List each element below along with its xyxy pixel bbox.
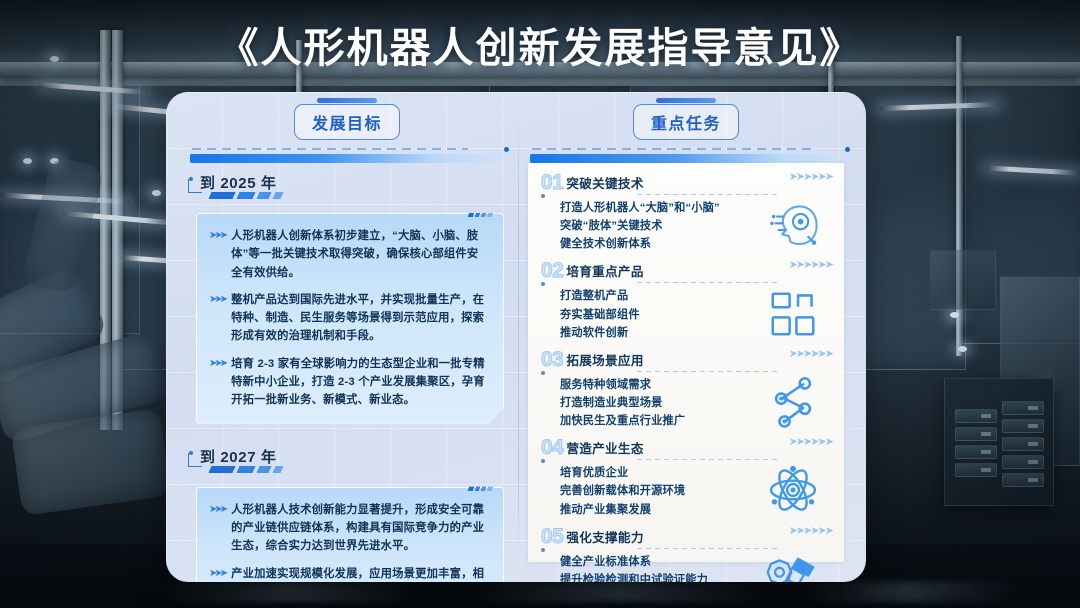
development-goals-badge: 发展目标 [294, 104, 400, 140]
chevron-bullet-icon: ➤➤➤ [209, 501, 225, 556]
task-chevrons-deco: ➤➤➤➤➤➤ [789, 170, 832, 183]
task-number: 02 [541, 260, 563, 281]
task-chevrons-deco: ➤➤➤➤➤➤ [789, 524, 832, 537]
chevron-bullet-icon: ➤➤➤ [209, 565, 225, 582]
task-number: 03 [541, 349, 563, 370]
tasks-header-bar [530, 154, 844, 163]
year-label: 到 2027 年 [200, 449, 277, 466]
goal-bullet: ➤➤➤ 人形机器人创新体系初步建立，“大脑、小脑、肢体”等一批关键技术取得突破，… [209, 227, 489, 282]
goal-bullet: ➤➤➤ 培育 2-3 家有全球影响力的生态型企业和一批专精特新中小企业，打造 2… [209, 355, 489, 410]
chevron-bullet-icon: ➤➤➤ [209, 227, 225, 282]
development-goals-panel: 发展目标 到 2025 年 ➤➤➤ 人形机器人创新体系初步建立，“大脑、小脑、肢… [166, 92, 518, 582]
goal-bullet: ➤➤➤ 产业加速实现规模化发展，应用场景更加丰富，相关产品深度融入实体经济，成为… [209, 565, 489, 582]
task-title: 营造产业生态 [566, 438, 643, 458]
year-tag-2025: 到 2025 年 [200, 172, 504, 193]
tasks-list: 01 突破关键技术 ➤➤➤➤➤➤ 打造人形机器人“大脑”和“小脑” 突破“肢体”… [528, 163, 844, 562]
column-divider [518, 108, 519, 566]
task-title: 突破关键技术 [566, 173, 643, 193]
chevron-bullet-icon: ➤➤➤ [209, 291, 225, 346]
task-item: 02 培育重点产品 ➤➤➤➤➤➤ 打造整机产品 夯实基础部组件 推动软件创新 [538, 260, 834, 347]
goal-bullet-text: 人形机器人技术创新能力显著提升，形成安全可靠的产业链供应链体系，构建具有国际竞争… [231, 501, 489, 556]
task-body: 打造整机产品 夯实基础部组件 推动软件创新 [538, 281, 834, 345]
task-title: 拓展场景应用 [566, 350, 643, 370]
task-item: 04 营造产业生态 ➤➤➤➤➤➤ 培育优质企业 完善创新载体和开源环境 推动产业… [538, 437, 834, 524]
task-item: 05 强化支撑能力 ➤➤➤➤➤➤ 健全产业标准体系 提升检验检测和中试验证能力 … [538, 526, 834, 582]
task-header: 05 强化支撑能力 ➤➤➤➤➤➤ [538, 526, 834, 547]
task-header: 03 拓展场景应用 ➤➤➤➤➤➤ [538, 349, 834, 370]
robot-head-icon [766, 198, 820, 252]
year-underline-deco [186, 192, 307, 199]
goal-bullet-text: 产业加速实现规模化发展，应用场景更加丰富，相关产品深度融入实体经济，成为重要的经… [231, 565, 489, 582]
task-header: 01 突破关键技术 ➤➤➤➤➤➤ [538, 172, 834, 193]
page-title: 《人形机器人创新发展指导意见》 [0, 14, 1080, 74]
task-number: 04 [541, 437, 563, 458]
task-body: 培育优质企业 完善创新载体和开源环境 推动产业集聚发展 [538, 458, 834, 522]
task-title: 培育重点产品 [566, 261, 643, 281]
task-chevrons-deco: ➤➤➤➤➤➤ [789, 347, 832, 360]
key-tasks-badge-wrap: 重点任务 [528, 104, 844, 140]
textbox-corner-deco [468, 209, 497, 217]
goals-textbox-2027: ➤➤➤ 人形机器人技术创新能力显著提升，形成安全可靠的产业链供应链体系，构建具有… [196, 487, 504, 582]
year-label: 到 2025 年 [200, 175, 277, 192]
modules-grid-icon [766, 287, 820, 341]
goal-bullet-text: 培育 2-3 家有全球影响力的生态型企业和一批专精特新中小企业，打造 2-3 个… [231, 355, 489, 410]
task-body: 服务特种领域需求 打造制造业典型场景 加快民生及重点行业推广 [538, 370, 834, 434]
goal-bullet: ➤➤➤ 人形机器人技术创新能力显著提升，形成安全可靠的产业链供应链体系，构建具有… [209, 501, 489, 556]
task-header: 04 营造产业生态 ➤➤➤➤➤➤ [538, 437, 834, 458]
bolt-wrench-icon [766, 552, 820, 582]
goals-textbox-2025: ➤➤➤ 人形机器人创新体系初步建立，“大脑、小脑、肢体”等一批关键技术取得突破，… [196, 213, 504, 424]
section-header-bar [190, 154, 502, 163]
key-tasks-panel: 重点任务 01 突破关键技术 ➤➤➤➤➤➤ 打造人形机器人“大脑”和“小脑” 突… [518, 92, 866, 582]
textbox-corner-deco [468, 483, 497, 491]
network-nodes-icon [766, 375, 820, 429]
task-body: 打造人形机器人“大脑”和“小脑” 突破“肢体”关键技术 健全技术创新体系 [538, 193, 834, 257]
task-item: 01 突破关键技术 ➤➤➤➤➤➤ 打造人形机器人“大脑”和“小脑” 突破“肢体”… [538, 172, 834, 259]
task-item: 03 拓展场景应用 ➤➤➤➤➤➤ 服务特种领域需求 打造制造业典型场景 加快民生… [538, 349, 834, 436]
key-tasks-badge: 重点任务 [633, 104, 739, 140]
task-chevrons-deco: ➤➤➤➤➤➤ [789, 258, 832, 271]
year-hook-icon [188, 179, 202, 193]
task-header: 02 培育重点产品 ➤➤➤➤➤➤ [538, 260, 834, 281]
year-underline-deco [186, 466, 307, 473]
goal-bullet: ➤➤➤ 整机产品达到国际先进水平，并实现批量生产，在特种、制造、民生服务等场景得… [209, 291, 489, 346]
development-goals-badge-wrap: 发展目标 [190, 104, 504, 140]
task-number: 05 [541, 526, 563, 547]
task-title: 强化支撑能力 [566, 527, 643, 547]
goal-bullet-text: 人形机器人创新体系初步建立，“大脑、小脑、肢体”等一批关键技术取得突破，确保核心… [231, 227, 489, 282]
chevron-bullet-icon: ➤➤➤ [209, 355, 225, 410]
goal-bullet-text: 整机产品达到国际先进水平，并实现批量生产，在特种、制造、民生服务等场景得到示范应… [231, 291, 489, 346]
year-tag-2027: 到 2027 年 [200, 446, 504, 467]
year-hook-icon [188, 453, 202, 467]
atom-icon [766, 463, 820, 517]
task-number: 01 [541, 172, 563, 193]
infographic-card: 发展目标 到 2025 年 ➤➤➤ 人形机器人创新体系初步建立，“大脑、小脑、肢… [166, 92, 866, 582]
task-chevrons-deco: ➤➤➤➤➤➤ [789, 435, 832, 448]
task-body: 健全产业标准体系 提升检验检测和中试验证能力 加强安全治理能力 [538, 547, 834, 582]
